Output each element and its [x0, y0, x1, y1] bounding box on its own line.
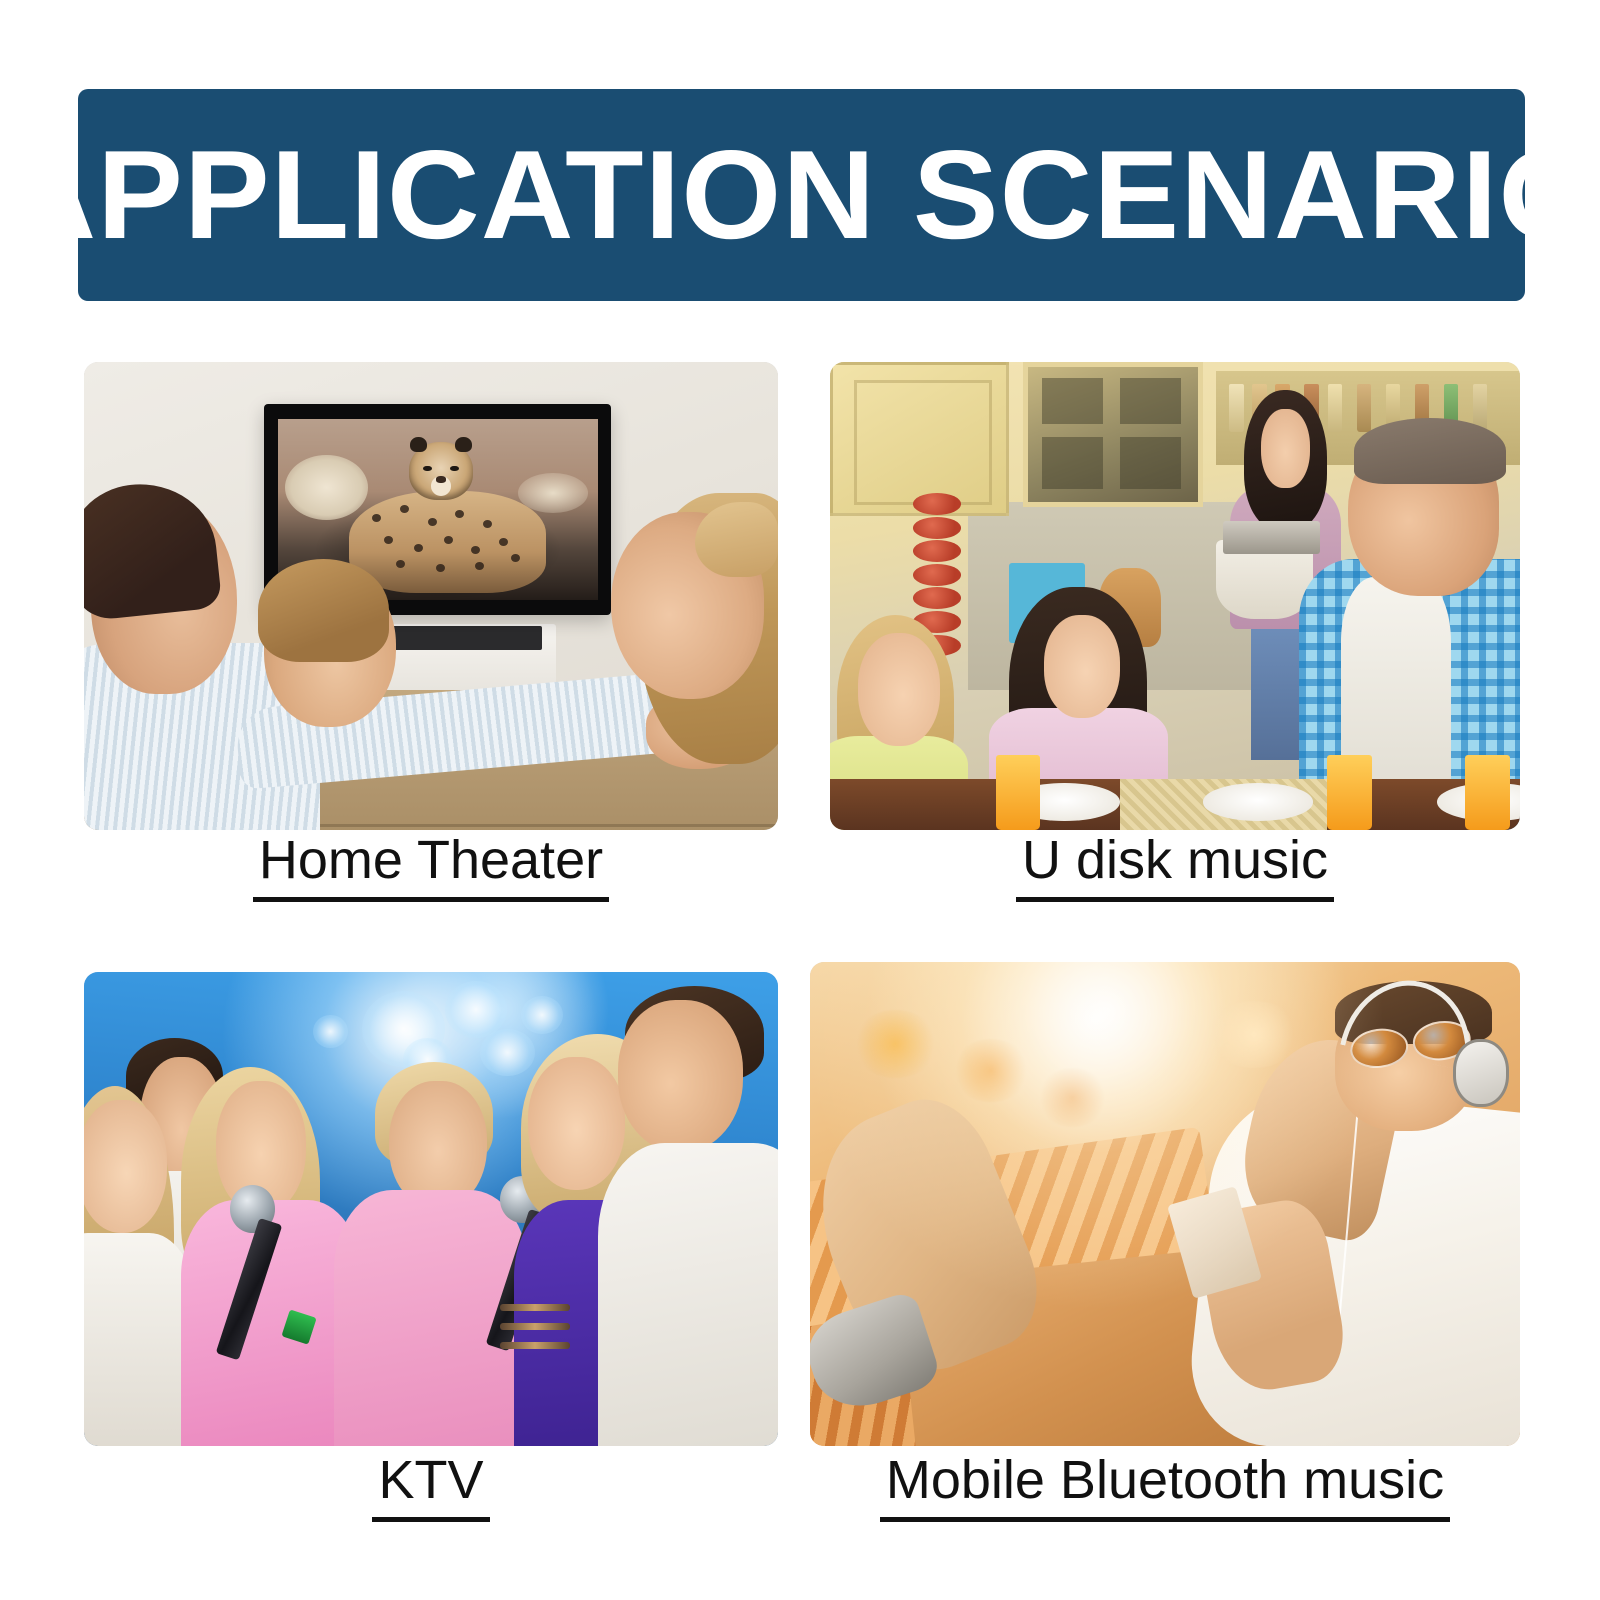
scenario-image-mobile-bluetooth-music	[810, 962, 1520, 1446]
serving-tray	[1223, 521, 1320, 554]
scenario-card-ktv[interactable]	[84, 972, 778, 1446]
scenario-card-home-theater[interactable]	[84, 362, 778, 830]
man-right-body	[598, 1143, 778, 1446]
juice-glass-left	[996, 755, 1041, 830]
caption-ktv: KTV	[84, 1452, 778, 1522]
caption-home-theater: Home Theater	[84, 832, 778, 902]
caption-home-theater-text: Home Theater	[253, 832, 609, 902]
singer-right-head	[528, 1057, 625, 1190]
background-blur-1	[853, 1010, 938, 1078]
scenario-image-u-disk-music	[830, 362, 1520, 830]
cheetah-eye-right	[450, 466, 459, 472]
caption-u-disk-music-text: U disk music	[1016, 832, 1334, 902]
bokeh-light-6	[313, 1015, 348, 1048]
older-girl-face	[1044, 615, 1120, 718]
scenario-card-u-disk-music[interactable]	[830, 362, 1520, 830]
cheetah-nose	[436, 476, 446, 483]
bracelet-2	[500, 1323, 569, 1331]
cheetah-spots	[349, 491, 547, 592]
woman-far-left-head	[84, 1100, 167, 1233]
father-hair	[1354, 418, 1506, 484]
scenario-card-mobile-bluetooth-music[interactable]	[810, 962, 1520, 1446]
cheetah-ear-left	[410, 437, 427, 452]
cheetah-eye-left	[423, 466, 432, 472]
kitchen-glass-cabinet	[1023, 362, 1202, 507]
scenario-grid: Home Theater	[0, 0, 1600, 1600]
man-right-head	[618, 1000, 743, 1152]
bokeh-light-5	[521, 996, 563, 1034]
application-scenario-page: APPLICATION SCENARIO	[0, 0, 1600, 1600]
younger-girl-face	[858, 633, 941, 745]
mother-hair-front	[695, 502, 778, 577]
background-blur-2	[952, 1039, 1030, 1102]
mother-face	[1261, 409, 1309, 489]
caption-mobile-bluetooth-music-text: Mobile Bluetooth music	[880, 1452, 1450, 1522]
juice-glass-right	[1465, 755, 1510, 830]
scenario-image-ktv	[84, 972, 778, 1446]
cheetah-head	[409, 442, 473, 500]
cheetah-body	[349, 491, 547, 592]
caption-u-disk-music: U disk music	[830, 832, 1520, 902]
scenario-image-home-theater	[84, 362, 778, 830]
bracelet-3	[500, 1342, 569, 1350]
boy-hair	[258, 559, 390, 662]
caption-mobile-bluetooth-music: Mobile Bluetooth music	[810, 1452, 1520, 1522]
cheetah-ear-right	[455, 437, 472, 452]
bracelet-1	[500, 1304, 569, 1312]
juice-glass-center	[1327, 755, 1372, 830]
woman-far-left-body	[84, 1233, 195, 1446]
bokeh-light-3	[480, 1029, 536, 1076]
plate-center	[1203, 783, 1313, 820]
background-blur-3	[1037, 1068, 1108, 1126]
headphone-earcup-icon	[1453, 1039, 1510, 1107]
caption-ktv-text: KTV	[372, 1452, 489, 1522]
